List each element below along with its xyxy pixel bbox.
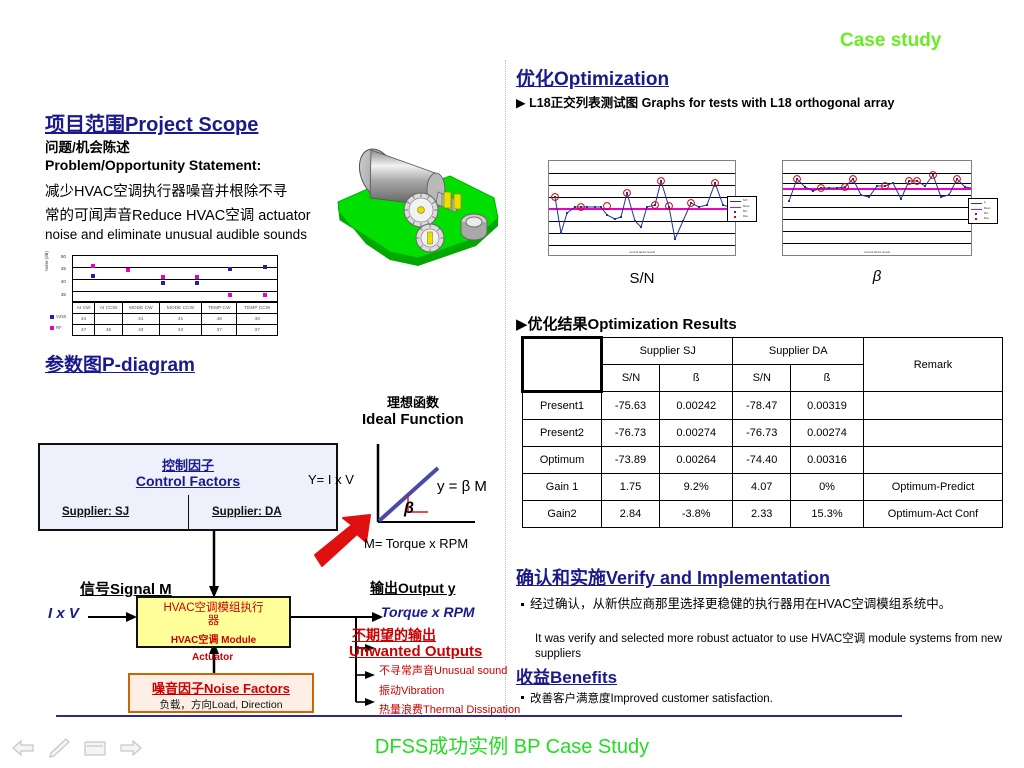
noise-point-rf <box>263 293 267 297</box>
results-group-supplier-da: Supplier DA <box>733 338 864 365</box>
table-row: Optimum -73.89 0.00264 -74.40 0.00316 <box>523 447 1003 474</box>
noise-point-rf <box>195 275 199 279</box>
row-label: Gain2 <box>523 501 602 528</box>
sn-legend-label-2: Min <box>743 210 747 213</box>
sn-legend-label-3: Max <box>743 215 748 218</box>
noise-cat-3: MODE CCW <box>159 303 201 314</box>
ideal-function-title-en: Ideal Function <box>362 411 464 428</box>
noise-ytick-40: 40 <box>52 279 66 284</box>
optimization-results-table: Supplier SJ Supplier DA Remark S/N ß S/N… <box>521 336 1003 528</box>
cell-da-beta: 0% <box>791 474 864 501</box>
sn-series-path <box>549 161 737 257</box>
rf-val-2: 43 <box>122 325 159 336</box>
noise-point-v250 <box>263 265 267 269</box>
cell-sj-beta: 9.2% <box>660 474 733 501</box>
ideal-function-y-axis-label: Y= I x V <box>308 472 354 487</box>
noise-ytick-45: 45 <box>52 266 66 271</box>
beta-chart-caption: β <box>782 268 972 285</box>
scope-body-line-2: 常的可闻声音Reduce HVAC空调 actuator <box>45 204 311 225</box>
ideal-function-equation: y = β M <box>437 478 487 495</box>
cell-da-beta: 0.00319 <box>791 392 864 420</box>
v250-val-3: 41 <box>159 314 201 325</box>
beta-chart-legend: β Mean Min Max <box>968 198 998 224</box>
row-label: Present1 <box>523 392 602 420</box>
beta-chart-xlabel: control factor levels <box>783 250 971 254</box>
beta-legend-label-2: Min <box>984 212 988 215</box>
results-group-supplier-sj: Supplier SJ <box>602 338 733 365</box>
rf-val-3: 43 <box>159 325 201 336</box>
cell-remark: Optimum-Predict <box>864 474 1003 501</box>
v250-val-4: 46 <box>202 314 237 325</box>
sn-chart-legend: S/N Mean Min Max <box>727 196 757 222</box>
ideal-function-title-cn: 理想函数 <box>387 392 439 411</box>
benefits-bullet: 改善客户满意度Improved customer satisfaction. <box>530 690 773 706</box>
noise-chart-ylabel: Noise (dB) <box>44 251 49 271</box>
cell-remark <box>864 447 1003 474</box>
sn-chart-caption: S/N <box>548 270 736 287</box>
cell-sj-beta: -3.8% <box>660 501 733 528</box>
scope-body-line-3: noise and eliminate unusual audible soun… <box>45 227 307 242</box>
pen-tool-icon[interactable] <box>46 736 72 760</box>
beta-legend-label-1: Mean <box>984 207 991 210</box>
cell-sj-beta: 0.00264 <box>660 447 733 474</box>
noise-measurement-chart: Noise (dB) 50 45 40 35 AI CW AI CCW MODE… <box>48 253 280 337</box>
optimization-subheading: ▶ L18正交列表测试图 Graphs for tests with L18 o… <box>516 92 894 111</box>
cell-sj-sn: -75.63 <box>602 392 660 420</box>
verify-heading: 确认和实施Verify and Implementation <box>516 564 830 590</box>
noise-cat-0: AI CW <box>73 303 95 314</box>
module-label-cn: HVAC空调模组执行 器 <box>138 602 289 628</box>
table-row: Present1 -75.63 0.00242 -78.47 0.00319 <box>523 392 1003 420</box>
triangle-bullet-icon: ▶ <box>516 316 528 333</box>
rf-val-5: 37 <box>237 325 278 336</box>
noise-ytick-35: 35 <box>52 292 66 297</box>
benefits-heading: 收益Benefits <box>516 663 617 688</box>
legend-marker-rf <box>50 326 54 330</box>
slide-footer-title: DFSS成功实例 BP Case Study <box>0 730 1024 759</box>
rf-val-0: 47 <box>73 325 95 336</box>
cell-da-sn: 2.33 <box>733 501 791 528</box>
beta-series-path <box>783 161 973 257</box>
rf-val-4: 37 <box>202 325 237 336</box>
rf-val-1: 45 <box>95 325 122 336</box>
table-row: 47 45 43 43 37 37 <box>73 325 278 336</box>
noise-factors-box: 噪音因子Noise Factors 负载，方向Load, Direction <box>128 673 314 713</box>
noise-cat-1: AI CCW <box>95 303 122 314</box>
results-corner-cell <box>523 338 602 392</box>
v250-val-5: 46 <box>237 314 278 325</box>
results-remark-header: Remark <box>864 338 1003 392</box>
table-row: 44 41 41 46 46 <box>73 314 278 325</box>
slideshow-nav-bar[interactable] <box>8 736 148 762</box>
v250-val-1 <box>95 314 122 325</box>
unwanted-output-item: 振动Vibration <box>379 682 444 698</box>
results-subheader-sj-sn: S/N <box>602 365 660 392</box>
problem-statement-cn: 问题/机会陈述 <box>45 136 130 156</box>
module-actuator-label: Actuator <box>192 652 233 663</box>
module-label-cn-b: 器 <box>208 615 220 627</box>
bullet-icon <box>521 603 524 606</box>
noise-cat-2: MODE CW <box>122 303 159 314</box>
cell-da-sn: -76.73 <box>733 420 791 447</box>
beta-legend-label-0: β <box>984 201 986 204</box>
unwanted-outputs-en: Unwanted Outputs <box>349 643 482 660</box>
next-slide-arrow-icon[interactable] <box>118 736 144 760</box>
ideal-function-beta-label: β <box>404 500 414 518</box>
p-diagram-heading: 参数图P-diagram <box>45 350 195 377</box>
cell-sj-sn: 1.75 <box>602 474 660 501</box>
table-header-row: Supplier SJ Supplier DA Remark <box>523 338 1003 365</box>
noise-chart-plot <box>72 255 278 302</box>
cell-da-sn: -74.40 <box>733 447 791 474</box>
signal-value: I x V <box>48 605 79 622</box>
unwanted-output-item: 不寻常声音Unusual sound <box>379 662 507 678</box>
unwanted-outputs-cn: 不期望的输出 <box>352 625 436 645</box>
triangle-bullet-icon: ▶ <box>516 96 526 110</box>
v250-val-2: 41 <box>122 314 159 325</box>
noise-point-v250 <box>195 281 199 285</box>
noise-data-table: AI CW AI CCW MODE CW MODE CCW TEMP CW TE… <box>72 302 278 336</box>
cell-remark <box>864 392 1003 420</box>
project-scope-heading: 项目范围Project Scope <box>45 108 258 137</box>
noise-point-v250 <box>161 281 165 285</box>
noise-point-v250 <box>228 267 232 271</box>
cell-sj-sn: -76.73 <box>602 420 660 447</box>
noise-point-rf <box>91 264 95 268</box>
table-row: AI CW AI CCW MODE CW MODE CCW TEMP CW TE… <box>73 303 278 314</box>
noise-cat-4: TEMP CW <box>202 303 237 314</box>
results-subheader-sj-beta: ß <box>660 365 733 392</box>
red-emphasis-arrow <box>315 515 370 566</box>
cell-sj-sn: -73.89 <box>602 447 660 474</box>
verify-bullet-cn: 经过确认，从新供应商那里选择更稳健的执行器用在HVAC空调模组系统中。 <box>530 596 1000 613</box>
footer-divider <box>56 715 902 717</box>
cell-da-sn: 4.07 <box>733 474 791 501</box>
actuator-3d-render <box>326 140 518 270</box>
noise-factors-label-en: 负载，方向Load, Direction <box>130 697 312 712</box>
sn-legend-label-0: S/N <box>743 199 747 202</box>
verify-bullet-en: It was verify and selected more robust a… <box>535 632 1003 662</box>
case-study-badge: Case study <box>840 30 941 52</box>
sn-legend-label-1: Mean <box>743 205 750 208</box>
problem-statement-en: Problem/Opportunity Statement: <box>45 157 261 173</box>
optimization-results-heading: ▶优化结果Optimization Results <box>516 313 737 334</box>
noise-point-rf <box>228 293 232 297</box>
cell-sj-sn: 2.84 <box>602 501 660 528</box>
sn-line-chart: control factor levels <box>548 160 736 256</box>
noise-point-rf <box>161 275 165 279</box>
cell-remark <box>864 420 1003 447</box>
table-row: Present2 -76.73 0.00274 -76.73 0.00274 <box>523 420 1003 447</box>
optimization-subheading-text: L18正交列表测试图 Graphs for tests with L18 ort… <box>529 96 894 110</box>
scope-body-line-1: 减少HVAC空调执行器噪音并根除不寻 <box>45 180 287 201</box>
output-value: Torque x RPM <box>381 604 475 620</box>
sn-chart-xlabel: control factor levels <box>549 250 735 254</box>
output-label: 输出Output y <box>370 578 456 598</box>
optimization-heading: 优化Optimization <box>516 64 669 91</box>
beta-line-chart: control factor levels <box>782 160 972 256</box>
row-label: Gain 1 <box>523 474 602 501</box>
legend-marker-v250 <box>50 315 54 319</box>
previous-slide-arrow-icon[interactable] <box>10 736 36 760</box>
module-label-cn-a: HVAC空调模组执行 <box>163 602 263 614</box>
legend-label-rf: RF <box>56 325 62 330</box>
ideal-function-x-axis-label: M= Torque x RPM <box>364 536 468 551</box>
row-label: Optimum <box>523 447 602 474</box>
noise-ytick-50: 50 <box>52 254 66 259</box>
noise-factors-label-cn: 噪音因子Noise Factors <box>130 678 312 697</box>
results-subheader-da-sn: S/N <box>733 365 791 392</box>
module-label-en: HVAC空调 Module <box>138 631 289 646</box>
cell-da-beta: 0.00316 <box>791 447 864 474</box>
table-row: Gain2 2.84 -3.8% 2.33 15.3% Optimum-Act … <box>523 501 1003 528</box>
noise-point-rf <box>126 268 130 272</box>
row-label: Present2 <box>523 420 602 447</box>
cell-da-beta: 15.3% <box>791 501 864 528</box>
noise-point-v250 <box>91 274 95 278</box>
cell-sj-beta: 0.00274 <box>660 420 733 447</box>
v250-val-0: 44 <box>73 314 95 325</box>
beta-legend-label-3: Max <box>984 217 989 220</box>
table-row: Gain 1 1.75 9.2% 4.07 0% Optimum-Predict <box>523 474 1003 501</box>
cell-sj-beta: 0.00242 <box>660 392 733 420</box>
bullet-icon <box>521 696 524 699</box>
legend-label-v250: V250 <box>56 314 66 319</box>
hvac-module-box: HVAC空调模组执行 器 HVAC空调 Module <box>136 596 291 648</box>
cell-da-sn: -78.47 <box>733 392 791 420</box>
cell-remark: Optimum-Act Conf <box>864 501 1003 528</box>
results-subheader-da-beta: ß <box>791 365 864 392</box>
optimization-results-heading-text: 优化结果Optimization Results <box>528 316 737 333</box>
slide-menu-icon[interactable] <box>82 736 108 760</box>
noise-cat-5: TEMP CCW <box>237 303 278 314</box>
cell-da-beta: 0.00274 <box>791 420 864 447</box>
